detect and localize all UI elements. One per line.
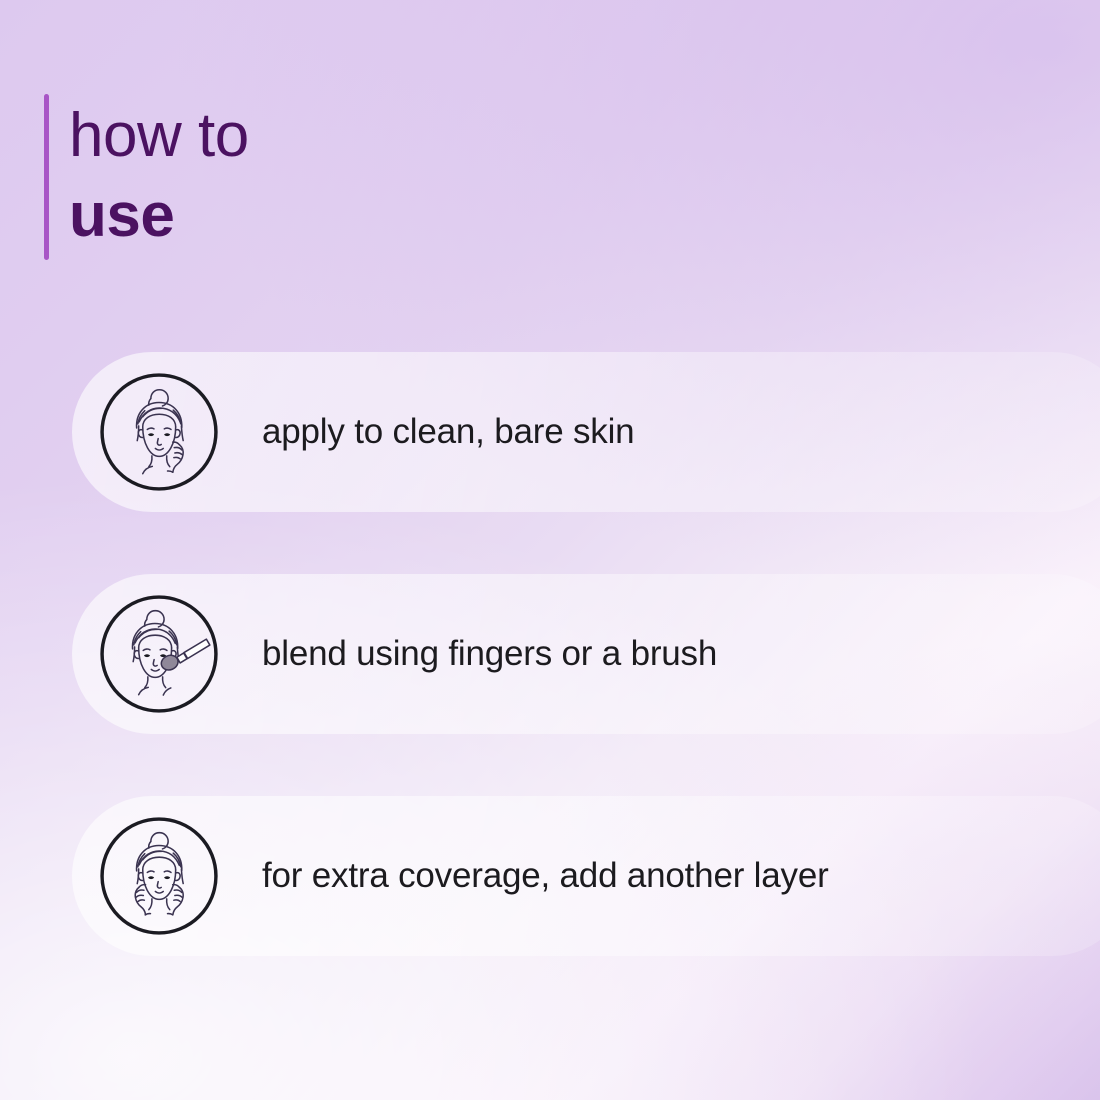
title-accent-bar: [44, 94, 49, 260]
how-to-use-poster: how to use: [0, 0, 1100, 1100]
step-label: for extra coverage, add another layer: [262, 854, 829, 898]
list-item: apply to clean, bare skin: [0, 352, 1100, 512]
step-label: blend using fingers or a brush: [262, 632, 717, 676]
woman-face-both-hands-cheeks-icon: [98, 815, 220, 937]
woman-face-with-makeup-brush-icon: [98, 593, 220, 715]
page-title-line-1: how to: [69, 96, 249, 176]
step-content: for extra coverage, add another layer: [72, 796, 829, 956]
step-content: apply to clean, bare skin: [72, 352, 634, 512]
title-lines: how to use: [69, 94, 249, 260]
list-item: for extra coverage, add another layer: [0, 796, 1100, 956]
page-title-line-2: use: [69, 176, 249, 256]
step-content: blend using fingers or a brush: [72, 574, 717, 734]
list-item: blend using fingers or a brush: [0, 574, 1100, 734]
page-title-block: how to use: [44, 94, 249, 260]
woman-face-touching-cheek-icon: [98, 371, 220, 493]
step-label: apply to clean, bare skin: [262, 410, 634, 454]
steps-list: apply to clean, bare skin: [0, 352, 1100, 1018]
